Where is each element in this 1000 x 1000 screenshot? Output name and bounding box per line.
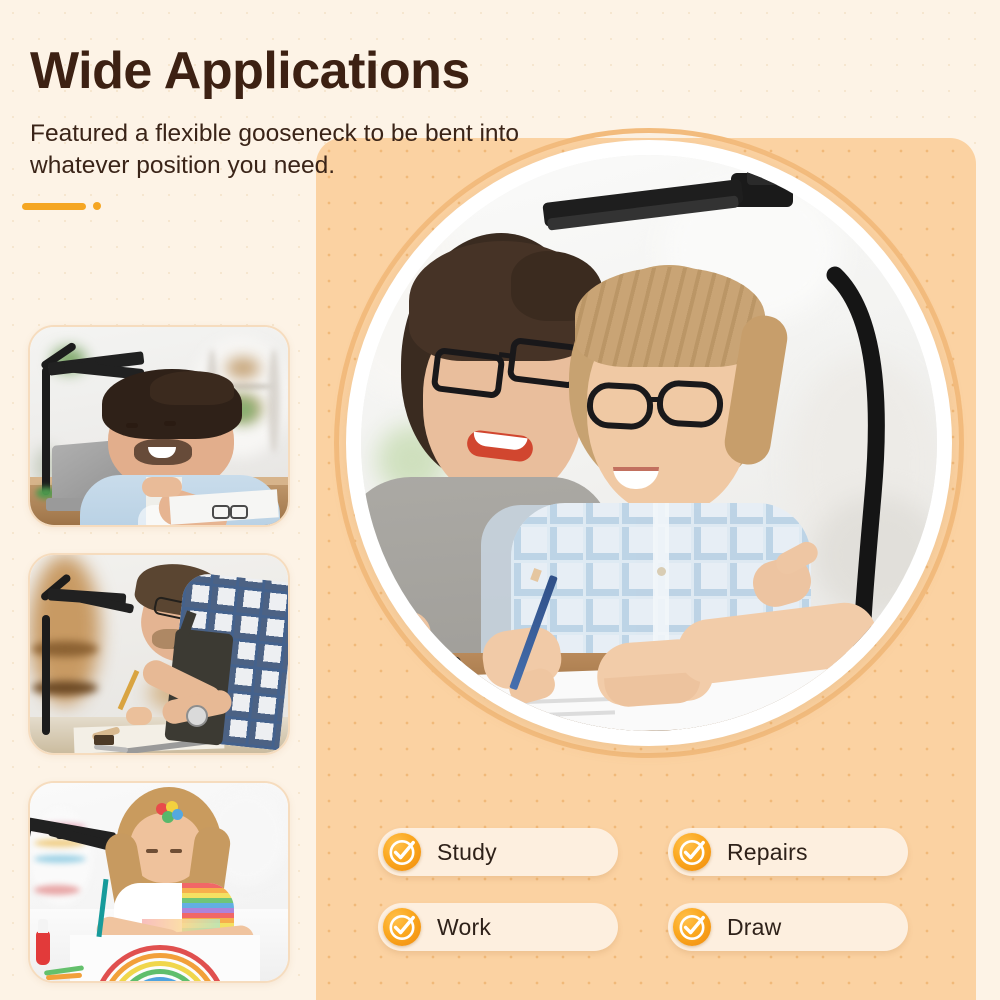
promo-canvas: Wide Applications Featured a flexible go… <box>0 0 1000 1000</box>
application-chip-draw[interactable]: Draw <box>668 903 908 951</box>
thumbnail-repairs[interactable] <box>28 553 290 755</box>
thumbnail-repairs-photo <box>30 555 288 753</box>
hero-photo <box>361 155 937 731</box>
thumbnail-work-photo <box>30 327 288 525</box>
chip-label: Repairs <box>727 839 808 866</box>
accent-dot <box>93 202 101 210</box>
check-circle-icon <box>673 908 711 946</box>
check-circle-icon <box>383 833 421 871</box>
page-title: Wide Applications <box>30 44 470 99</box>
thumbnail-work[interactable] <box>28 325 290 527</box>
accent-bar <box>22 203 86 210</box>
chip-label: Study <box>437 839 497 866</box>
thumbnail-draw[interactable] <box>28 781 290 983</box>
chip-label: Draw <box>727 914 781 941</box>
chip-label: Work <box>437 914 491 941</box>
accent-underline <box>22 202 101 210</box>
application-chip-work[interactable]: Work <box>378 903 618 951</box>
check-circle-icon <box>383 908 421 946</box>
application-chip-repairs[interactable]: Repairs <box>668 828 908 876</box>
check-circle-icon <box>673 833 711 871</box>
thumbnail-draw-photo <box>30 783 288 981</box>
hero-image[interactable] <box>334 128 964 758</box>
application-chip-study[interactable]: Study <box>378 828 618 876</box>
